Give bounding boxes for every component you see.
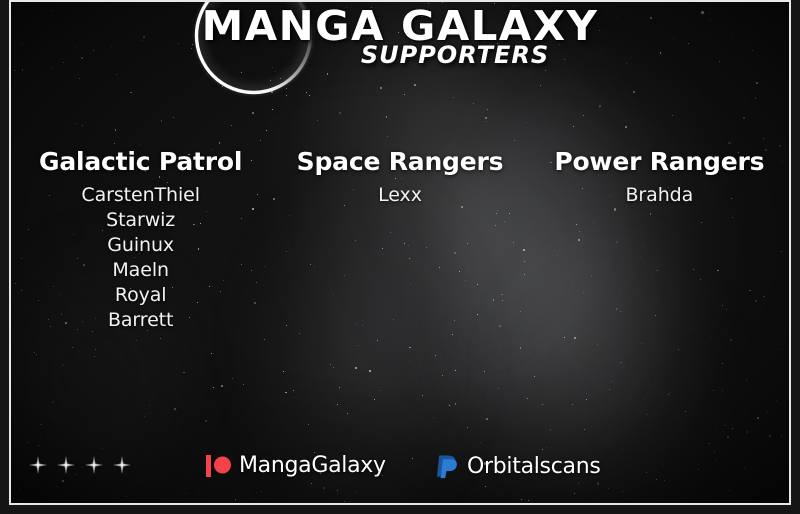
tier-name-list: CarstenThiel Starwiz Guinux Maeln Royal … xyxy=(15,183,266,333)
four-point-star-icon xyxy=(29,456,47,474)
four-point-star-icon xyxy=(113,456,131,474)
supporter-name: Lexx xyxy=(274,183,525,208)
supporters-poster: MANGA GALAXY SUPPORTERS Galactic Patrol … xyxy=(0,0,800,514)
brand-paypal[interactable]: Orbitalscans xyxy=(436,454,601,480)
tier-title: Power Rangers xyxy=(534,148,785,177)
tier-galactic-patrol: Galactic Patrol CarstenThiel Starwiz Gui… xyxy=(11,148,270,333)
poster-footer: MangaGalaxy Orbitalscans xyxy=(11,454,789,490)
supporter-name: Guinux xyxy=(15,233,266,258)
four-point-star-icon xyxy=(85,456,103,474)
crescent-moon-icon xyxy=(186,0,321,103)
tier-power-rangers: Power Rangers Brahda xyxy=(530,148,789,333)
tier-title: Galactic Patrol xyxy=(15,148,266,177)
tier-name-list: Brahda xyxy=(534,183,785,208)
brand-label: MangaGalaxy xyxy=(239,455,386,477)
tier-title: Space Rangers xyxy=(274,148,525,177)
supporter-name: CarstenThiel xyxy=(15,183,266,208)
supporter-name: Barrett xyxy=(15,308,266,333)
four-point-star-icon xyxy=(57,456,75,474)
paypal-icon xyxy=(436,454,460,480)
supporter-name: Brahda xyxy=(534,183,785,208)
patreon-icon xyxy=(206,454,232,478)
tier-space-rangers: Space Rangers Lexx xyxy=(270,148,529,333)
supporter-name: Starwiz xyxy=(15,208,266,233)
tier-name-list: Lexx xyxy=(274,183,525,208)
supporter-name: Royal xyxy=(15,283,266,308)
brand-patreon[interactable]: MangaGalaxy xyxy=(206,454,386,478)
sparkle-decoration-group xyxy=(29,456,131,474)
brand-label: Orbitalscans xyxy=(467,456,601,478)
supporter-name: Maeln xyxy=(15,258,266,283)
supporter-tiers: Galactic Patrol CarstenThiel Starwiz Gui… xyxy=(11,148,789,333)
